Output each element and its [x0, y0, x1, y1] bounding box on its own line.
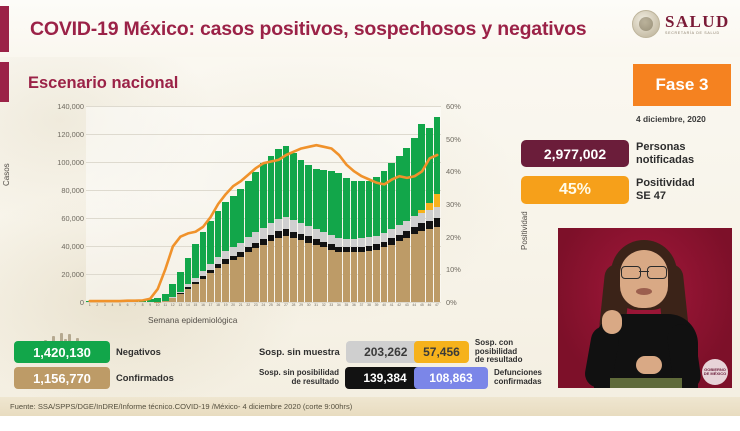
bar-segment: [237, 189, 244, 242]
bar-segment: [335, 252, 342, 302]
stat-item: 57,456Sosp. con posibilidadde resultado: [414, 341, 536, 363]
bar-segment: [358, 181, 365, 238]
bar-segment: [305, 165, 312, 226]
bar-segment: [388, 163, 395, 229]
bar-column: [388, 106, 396, 302]
covid-stacked-bar-chart: Casos Positividad Semana epidemiológica …: [8, 100, 528, 330]
bar-column: [433, 106, 441, 302]
stat-label: Sosp. sin muestra: [259, 347, 340, 357]
bar-column: [252, 106, 260, 302]
x-axis-tick-label: 17: [207, 303, 215, 307]
x-axis-tick-label: 18: [214, 303, 222, 307]
y2-axis-tick-label: 20%: [446, 233, 486, 242]
bar-segment: [245, 252, 252, 302]
y-axis-tick-label: 20,000: [14, 270, 84, 279]
bar-segment: [426, 203, 433, 210]
stat-item: 1,420,130Negativos: [14, 341, 161, 363]
x-axis-tick-label: 40: [380, 303, 388, 307]
x-axis-tick-label: 25: [267, 303, 275, 307]
bar-column: [350, 106, 358, 302]
bar-column: [365, 106, 373, 302]
bar-segment: [403, 238, 410, 302]
x-axis-tick-label: 20: [229, 303, 237, 307]
x-axis-tick-label: 36: [350, 303, 358, 307]
bar-column: [154, 106, 162, 302]
bar-segment: [396, 241, 403, 302]
bar-segment: [268, 241, 275, 302]
bar-segment: [426, 210, 433, 221]
bar-segment: [358, 252, 365, 302]
bar-segment: [351, 239, 358, 247]
bar-segment: [222, 202, 229, 251]
stat-item: Sosp. sin muestra203,262: [259, 341, 426, 363]
bar-column: [184, 106, 192, 302]
bar-segment: [366, 237, 373, 245]
page-title: COVID-19 México: casos positivos, sospec…: [30, 18, 586, 41]
bar-segment: [185, 289, 192, 302]
bar-segment: [343, 239, 350, 247]
bar-column: [229, 106, 237, 302]
bar-column: [418, 106, 426, 302]
bar-segment: [192, 284, 199, 302]
bar-column: [169, 106, 177, 302]
y2-axis-tick-label: 40%: [446, 167, 486, 176]
metric-label: Personas notificadas: [636, 141, 694, 167]
y2-axis-title: Positividad: [520, 211, 529, 250]
x-axis-tick-label: 4: [109, 303, 117, 307]
x-axis-title: Semana epidemiológica: [148, 315, 237, 325]
bar-segment: [252, 172, 259, 232]
bottom-white-strip: [0, 416, 740, 431]
source-text: Fuente: SSA/SPPS/DGE/InDRE/Informe técni…: [10, 402, 352, 411]
bar-segment: [373, 236, 380, 245]
bar-column: [101, 106, 109, 302]
x-axis-tick-label: 44: [411, 303, 419, 307]
y-axis-tick-label: 140,000: [14, 102, 84, 111]
bar-column: [343, 106, 351, 302]
bar-segment: [298, 160, 305, 223]
accent-bar-top: [0, 6, 9, 52]
bar-column: [109, 106, 117, 302]
x-axis-tick-label: 23: [252, 303, 260, 307]
bar-segment: [298, 223, 305, 234]
metric-value: 45%: [521, 176, 629, 204]
bar-column: [320, 106, 328, 302]
bar-segment: [245, 181, 252, 237]
bar-segment: [230, 247, 237, 256]
x-axis-tick-label: 21: [237, 303, 245, 307]
bar-segment: [260, 228, 267, 239]
x-axis-tick-label: 35: [343, 303, 351, 307]
bar-segment: [290, 238, 297, 302]
bar-segment: [252, 232, 259, 242]
bar-segment: [192, 244, 199, 278]
x-axis-tick-label: 12: [169, 303, 177, 307]
bar-segment: [177, 272, 184, 292]
x-axis-tick-label: 13: [177, 303, 185, 307]
footer-source-bar: Fuente: SSA/SPPS/DGE/InDRE/Informe técni…: [0, 397, 740, 416]
bar-segment: [403, 231, 410, 238]
bar-column: [328, 106, 336, 302]
stat-label: Sosp. con posibilidadde resultado: [475, 339, 536, 365]
bar-segment: [275, 238, 282, 302]
interpreter-skirt: [610, 378, 682, 388]
x-axis-tick-label: 42: [395, 303, 403, 307]
x-axis-tick-label: 45: [418, 303, 426, 307]
bar-segment: [215, 268, 222, 302]
bar-segment: [381, 233, 388, 242]
stat-value: 1,420,130: [14, 341, 110, 363]
interpreter-mouth: [636, 288, 652, 295]
accent-bar-middle: [0, 62, 9, 102]
bar-segment: [290, 220, 297, 232]
bar-column: [116, 106, 124, 302]
bar-segment: [207, 221, 214, 264]
bar-segment: [411, 227, 418, 234]
y-axis-tick-label: 40,000: [14, 242, 84, 251]
bar-segment: [275, 149, 282, 219]
gobierno-de-mexico-seal-icon: GOBIERNO DE MÉXICO: [702, 359, 728, 385]
sign-language-interpreter-video[interactable]: GOBIERNO DE MÉXICO: [558, 228, 732, 388]
bar-segment: [366, 181, 373, 238]
bar-segment: [215, 257, 222, 264]
bar-segment: [245, 237, 252, 247]
report-date: 4 diciembre, 2020: [636, 114, 736, 124]
x-axis-tick-label: 41: [388, 303, 396, 307]
bar-segment: [230, 196, 237, 247]
bar-segment: [109, 300, 116, 302]
x-axis-tick-label: 10: [154, 303, 162, 307]
bar-segment: [313, 245, 320, 302]
y2-axis-tick-label: 60%: [446, 102, 486, 111]
x-axis-tick-label: 32: [320, 303, 328, 307]
bar-segment: [381, 247, 388, 302]
bar-segment: [268, 156, 275, 223]
y-axis-tick-label: 0: [14, 298, 84, 307]
bar-segment: [260, 245, 267, 302]
y2-axis-tick-label: 30%: [446, 200, 486, 209]
stat-item: 108,863Defuncionesconfirmadas: [414, 367, 542, 389]
bar-column: [335, 106, 343, 302]
bar-segment: [418, 231, 425, 302]
x-axis-tick-label: 5: [116, 303, 124, 307]
bar-column: [282, 106, 290, 302]
bar-segment: [86, 301, 93, 302]
bar-column: [214, 106, 222, 302]
stat-label-line1: Confirmados: [116, 373, 174, 383]
metric-label-line2: notificadas: [636, 154, 694, 167]
y-axis-tick-label: 60,000: [14, 214, 84, 223]
bar-segment: [396, 225, 403, 235]
bar-column: [275, 106, 283, 302]
bar-column: [297, 106, 305, 302]
bar-segment: [366, 251, 373, 302]
bar-segment: [335, 173, 342, 238]
bar-segment: [230, 260, 237, 302]
metric-positividad: 45% Positividad SE 47: [521, 176, 695, 204]
bar-column: [380, 106, 388, 302]
bar-segment: [313, 229, 320, 239]
x-axis-tick-label: 22: [244, 303, 252, 307]
bar-segment: [215, 211, 222, 257]
bar-segment: [320, 170, 327, 232]
stat-label-line2: confirmadas: [494, 378, 542, 387]
metric-value: 2,977,002: [521, 140, 629, 167]
bar-segment: [237, 243, 244, 252]
bar-segment: [426, 221, 433, 229]
y2-axis-tick-label: 10%: [446, 265, 486, 274]
bar-segment: [320, 232, 327, 241]
bar-column: [358, 106, 366, 302]
bar-segment: [373, 177, 380, 236]
bar-column: [146, 106, 154, 302]
bar-segment: [426, 128, 433, 202]
bar-segment: [283, 146, 290, 217]
bar-segment: [237, 257, 244, 303]
x-axis-tick-label: 16: [199, 303, 207, 307]
x-axis-tick-label: 14: [184, 303, 192, 307]
x-axis-tick-label: 28: [290, 303, 298, 307]
bar-segment: [283, 229, 290, 236]
x-axis-tick-label: 46: [426, 303, 434, 307]
bar-segment: [343, 178, 350, 240]
bar-segment: [351, 252, 358, 302]
bar-segment: [426, 229, 433, 302]
y2-axis-tick-label: 0%: [446, 298, 486, 307]
bar-column: [222, 106, 230, 302]
x-axis-tick-label: 11: [161, 303, 169, 307]
bar-segment: [124, 300, 131, 302]
x-axis-tick-label: 26: [275, 303, 283, 307]
bar-column: [290, 106, 298, 302]
bar-segment: [396, 156, 403, 225]
bar-segment: [305, 226, 312, 237]
bar-column: [373, 106, 381, 302]
bar-column: [395, 106, 403, 302]
bar-segment: [147, 299, 154, 302]
bar-segment: [283, 236, 290, 302]
stat-label: Negativos: [116, 347, 161, 357]
mexico-eagle-seal-icon: [632, 10, 660, 38]
bar-column: [411, 106, 419, 302]
stat-label: Defuncionesconfirmadas: [494, 369, 542, 387]
salud-subtitle: SECRETARÍA DE SALUD: [665, 32, 730, 36]
bar-segment: [162, 301, 169, 302]
bar-segment: [418, 213, 425, 224]
bar-segment: [290, 153, 297, 220]
bar-segment: [434, 117, 441, 194]
metric-label-line1: Personas: [636, 141, 694, 154]
bar-column: [237, 106, 245, 302]
x-axis-tick-label: 19: [222, 303, 230, 307]
x-axis-tick-label: 47: [433, 303, 441, 307]
stat-label-line2: de resultado: [475, 356, 536, 365]
interpreter-hand-right: [636, 356, 662, 374]
bar-segment: [252, 248, 259, 302]
bar-column: [426, 106, 434, 302]
y2-axis-tick-label: 50%: [446, 135, 486, 144]
bar-segment: [305, 243, 312, 303]
bar-segment: [434, 194, 441, 207]
bar-segment: [268, 223, 275, 234]
bar-segment: [200, 232, 207, 271]
y-axis-title: Casos: [2, 163, 11, 186]
bar-column: [161, 106, 169, 302]
stat-value: 108,863: [414, 367, 488, 389]
bar-column: [139, 106, 147, 302]
x-axis-ticks: 1234567891011121314151617181920212223242…: [86, 303, 441, 307]
bar-segment: [328, 235, 335, 244]
bar-column: [244, 106, 252, 302]
metric-label-line1: Positividad: [636, 177, 695, 190]
bar-segment: [117, 300, 124, 302]
bar-segment: [200, 279, 207, 302]
salud-logo: SALUD SECRETARÍA DE SALUD: [632, 10, 730, 38]
interpreter-face: [620, 250, 668, 308]
bar-segment: [185, 258, 192, 285]
bar-segment: [260, 163, 267, 227]
x-axis-tick-label: 8: [139, 303, 147, 307]
bar-segment: [358, 238, 365, 246]
bar-group: [86, 106, 441, 302]
bar-segment: [411, 216, 418, 227]
x-axis-tick-label: 6: [124, 303, 132, 307]
bar-segment: [283, 217, 290, 229]
bar-column: [267, 106, 275, 302]
bar-column: [199, 106, 207, 302]
x-axis-tick-label: 3: [101, 303, 109, 307]
bar-segment: [298, 240, 305, 302]
bar-column: [192, 106, 200, 302]
bar-segment: [434, 207, 441, 219]
bar-segment: [275, 219, 282, 231]
bar-segment: [328, 250, 335, 303]
y-axis-tick-label: 120,000: [14, 130, 84, 139]
stat-label-line1: Negativos: [116, 347, 161, 357]
bar-segment: [373, 250, 380, 303]
bar-column: [177, 106, 185, 302]
bar-segment: [343, 252, 350, 302]
metric-label-line2: SE 47: [636, 190, 695, 203]
x-axis-tick-label: 39: [373, 303, 381, 307]
bar-segment: [207, 273, 214, 302]
x-axis-tick-label: 43: [403, 303, 411, 307]
bar-segment: [94, 301, 101, 302]
bar-segment: [328, 171, 335, 235]
x-axis-tick-label: 24: [260, 303, 268, 307]
stat-label-line1: Sosp. sin muestra: [259, 347, 340, 357]
stat-value: 57,456: [414, 341, 469, 363]
bar-segment: [320, 247, 327, 302]
bar-segment: [169, 298, 176, 302]
bar-segment: [169, 284, 176, 297]
bar-segment: [101, 301, 108, 302]
x-axis-tick-label: 37: [358, 303, 366, 307]
bar-column: [207, 106, 215, 302]
phase-badge: Fase 3: [633, 64, 731, 106]
x-axis-tick-label: 33: [328, 303, 336, 307]
stats-legend: 1,420,130Negativos1,156,770ConfirmadosSo…: [14, 341, 534, 391]
x-axis-tick-label: 7: [131, 303, 139, 307]
bar-segment: [162, 294, 169, 301]
bar-segment: [411, 234, 418, 302]
metric-personas-notificadas: 2,977,002 Personas notificadas: [521, 140, 694, 167]
plot-area: [86, 106, 441, 302]
bar-column: [403, 106, 411, 302]
stat-value: 1,156,770: [14, 367, 110, 389]
bar-column: [312, 106, 320, 302]
stat-label: Confirmados: [116, 373, 174, 383]
bar-segment: [418, 124, 425, 211]
x-axis-tick-label: 9: [146, 303, 154, 307]
metric-label: Positividad SE 47: [636, 177, 695, 203]
x-axis-tick-label: 1: [86, 303, 94, 307]
x-axis-tick-label: 2: [94, 303, 102, 307]
interpreter-hand-left: [602, 310, 622, 334]
x-axis-tick-label: 27: [282, 303, 290, 307]
bar-column: [305, 106, 313, 302]
bar-segment: [381, 171, 388, 233]
stat-label: Sosp. sin posibilidadde resultado: [259, 369, 339, 387]
bar-segment: [418, 223, 425, 231]
x-axis-tick-label: 30: [305, 303, 313, 307]
bar-segment: [388, 245, 395, 302]
bar-segment: [434, 218, 441, 227]
bar-segment: [403, 221, 410, 231]
bar-segment: [275, 231, 282, 238]
bar-column: [131, 106, 139, 302]
bar-segment: [434, 227, 441, 302]
bar-segment: [222, 264, 229, 303]
x-axis-tick-label: 31: [312, 303, 320, 307]
bar-segment: [139, 300, 146, 302]
bar-segment: [313, 169, 320, 229]
x-axis-tick-label: 38: [365, 303, 373, 307]
bar-segment: [335, 238, 342, 246]
stat-label-line1: Sosp. con posibilidad: [475, 339, 536, 357]
bar-segment: [388, 229, 395, 238]
bar-segment: [396, 235, 403, 242]
y-axis-tick-label: 80,000: [14, 186, 84, 195]
bar-segment: [177, 294, 184, 302]
stat-item: Sosp. sin posibilidadde resultado139,384: [259, 367, 425, 389]
bar-segment: [351, 181, 358, 240]
x-axis-tick-label: 15: [192, 303, 200, 307]
salud-wordmark: SALUD: [665, 13, 730, 30]
bar-segment: [290, 232, 297, 239]
section-title: Escenario nacional: [28, 74, 178, 93]
bar-segment: [403, 148, 410, 221]
bar-segment: [411, 138, 418, 216]
slide-root: COVID-19 México: casos positivos, sospec…: [0, 0, 740, 431]
stat-item: 1,156,770Confirmados: [14, 367, 174, 389]
bar-column: [86, 106, 94, 302]
bar-column: [260, 106, 268, 302]
stat-label-line2: de resultado: [259, 378, 339, 387]
bar-column: [124, 106, 132, 302]
y-axis-tick-label: 100,000: [14, 158, 84, 167]
bar-segment: [222, 251, 229, 259]
x-axis-tick-label: 34: [335, 303, 343, 307]
glasses-icon: [621, 266, 667, 277]
x-axis-tick-label: 29: [297, 303, 305, 307]
bar-segment: [132, 300, 139, 302]
salud-logo-text: SALUD SECRETARÍA DE SALUD: [665, 13, 730, 36]
bar-column: [94, 106, 102, 302]
